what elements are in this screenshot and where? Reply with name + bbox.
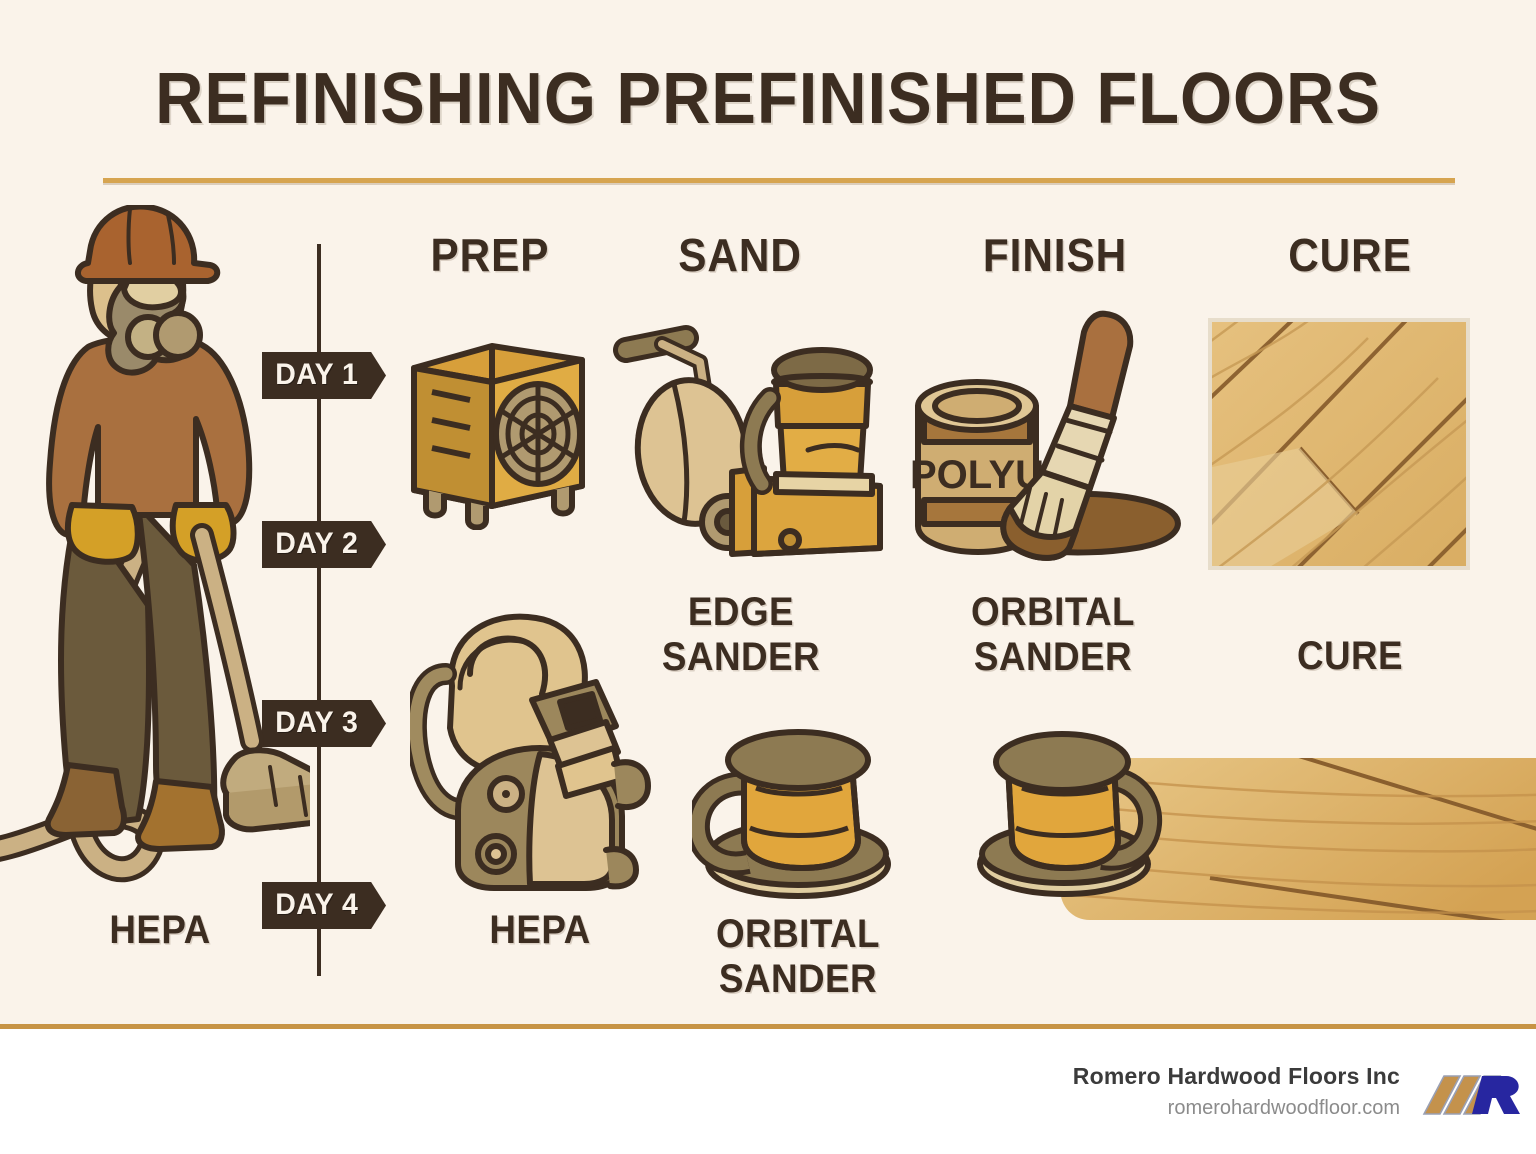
air-mover-illustration xyxy=(404,330,594,530)
orbital-sander-finish-caption: ORBITAL SANDER xyxy=(956,590,1149,680)
column-header-finish: FINISH xyxy=(968,228,1143,282)
infographic-root: REFINISHING PREFINISHED FLOORS PREP SAND… xyxy=(0,0,1536,1154)
footer-company-name: Romero Hardwood Floors Inc xyxy=(1073,1063,1400,1090)
column-header-cure: CURE xyxy=(1263,228,1438,282)
edge-sander-illustration xyxy=(604,322,904,582)
column-header-sand: SAND xyxy=(657,228,823,282)
company-logo xyxy=(1410,1062,1526,1128)
footer-website-url[interactable]: romerohardwoodfloor.com xyxy=(1168,1097,1400,1120)
footer xyxy=(0,1029,1536,1154)
hepa-drum-sander-caption: HEPA xyxy=(448,908,632,953)
wood-floor-swatch xyxy=(1208,318,1470,570)
page-title: REFINISHING PREFINISHED FLOORS xyxy=(54,58,1482,140)
orbital-sander-illustration xyxy=(692,712,906,902)
title-divider xyxy=(103,178,1455,183)
cure-caption: CURE xyxy=(1258,634,1442,679)
orbital-sander-sand-caption: ORBITAL SANDER xyxy=(697,912,899,1002)
orbital-sander-on-floor-illustration xyxy=(968,722,1168,902)
hepa-drum-sander-illustration xyxy=(410,608,676,904)
polyurethane-illustration: POLYU xyxy=(900,310,1200,575)
worker-caption-hepa: HEPA xyxy=(68,908,252,953)
column-header-prep: PREP xyxy=(407,228,573,282)
worker-with-hepa-vacuum-illustration xyxy=(0,205,310,905)
